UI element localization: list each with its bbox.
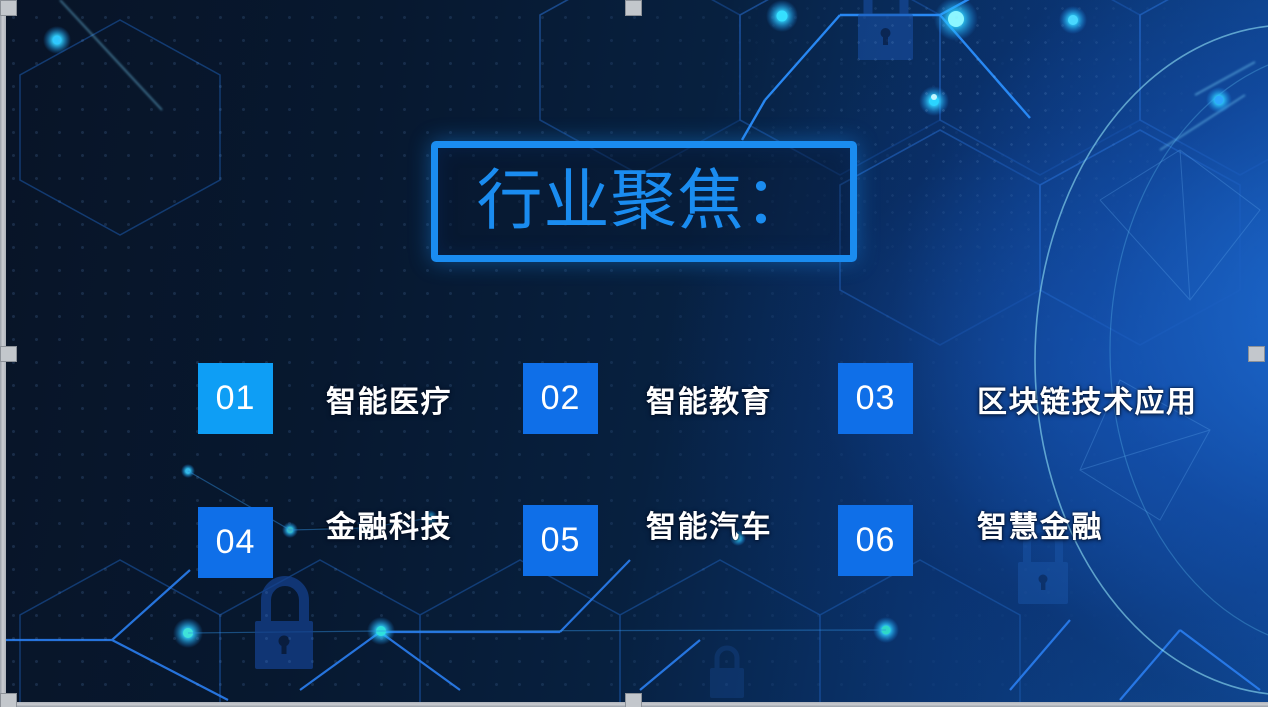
resize-handle-right[interactable] — [1248, 346, 1265, 362]
resize-handle-left[interactable] — [0, 346, 17, 362]
list-item-06[interactable]: 06 智慧金融 — [838, 502, 1103, 578]
item-label-03: 区块链技术应用 — [977, 377, 1198, 421]
lock-icon-top — [858, 0, 913, 60]
resize-handle-top[interactable] — [625, 0, 642, 16]
item-number-badge-06: 06 — [838, 505, 913, 576]
slide-title-box: 行业聚焦： — [431, 141, 857, 262]
item-number-03: 03 — [856, 379, 896, 418]
item-number-badge-03: 03 — [838, 363, 913, 434]
list-item-05[interactable]: 05 智能汽车 — [523, 502, 772, 578]
item-number-05: 05 — [541, 521, 581, 560]
dot-grid-texture-secondary — [0, 0, 1268, 707]
item-number-badge-01: 01 — [198, 363, 273, 434]
background-graphics — [0, 0, 1268, 707]
resize-handle-bottom[interactable] — [625, 693, 642, 707]
list-item-02[interactable]: 02 智能教育 — [523, 363, 772, 434]
item-label-01: 智能医疗 — [326, 377, 452, 421]
item-label-04: 金融科技 — [326, 502, 452, 546]
item-number-04: 04 — [216, 523, 256, 562]
item-number-badge-05: 05 — [523, 505, 598, 576]
item-label-02: 智能教育 — [646, 377, 772, 421]
list-item-01[interactable]: 01 智能医疗 — [198, 363, 452, 434]
lock-icon-small — [710, 648, 744, 698]
resize-handle-bottom-left[interactable] — [0, 693, 17, 707]
item-number-badge-02: 02 — [523, 363, 598, 434]
page-title: 行业聚焦： — [477, 167, 812, 233]
item-label-06: 智慧金融 — [977, 502, 1103, 546]
list-item-04[interactable]: 04 金融科技 — [198, 502, 452, 582]
item-number-01: 01 — [216, 379, 256, 418]
item-number-06: 06 — [856, 521, 896, 560]
list-item-03[interactable]: 03 区块链技术应用 — [838, 363, 1198, 434]
item-number-02: 02 — [541, 379, 581, 418]
item-label-05: 智能汽车 — [646, 502, 772, 546]
dot-grid-texture — [0, 0, 1268, 707]
resize-handle-top-left[interactable] — [0, 0, 17, 16]
presentation-slide: 行业聚焦： 01 智能医疗 02 智能教育 03 区块链技术应用 04 金融科技… — [0, 0, 1268, 707]
item-number-badge-04: 04 — [198, 507, 273, 578]
lock-icon-bottom-left — [255, 581, 313, 669]
